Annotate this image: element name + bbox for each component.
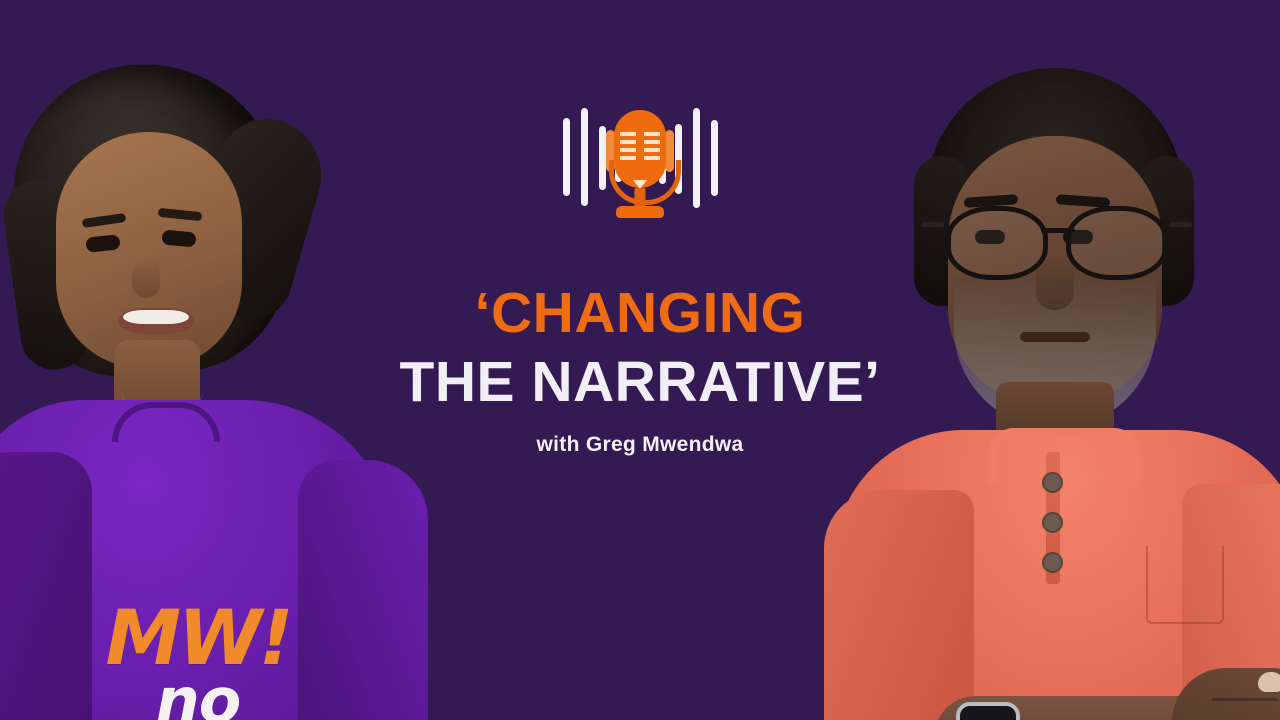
man-nose xyxy=(1036,256,1074,310)
woman-mouth xyxy=(118,308,194,334)
title-line-2: THE NARRATIVE’ xyxy=(360,354,920,411)
woman-portrait: MW! no work xyxy=(0,60,394,720)
man-shirt-button-2 xyxy=(1042,512,1063,533)
man-shirt-button-1 xyxy=(1042,472,1063,493)
waveform-bars xyxy=(555,104,725,219)
waveform-bar-left-2 xyxy=(581,108,588,206)
waveform-bar-right-2 xyxy=(675,124,682,194)
waveform-bar-right-4 xyxy=(711,120,718,196)
title-card: MW! no work xyxy=(0,0,1280,720)
podcast-microphone-waveform-icon xyxy=(555,104,725,219)
waveform-bar-right-3 xyxy=(693,108,700,208)
mic-grille xyxy=(620,132,660,166)
woman-tshirt-logo: MW! no work xyxy=(78,600,318,720)
microphone-icon xyxy=(603,106,677,218)
man-shirt-collar xyxy=(988,428,1140,485)
man-shirt-pocket xyxy=(1146,546,1224,624)
man-shirt-button-3 xyxy=(1042,552,1063,573)
man-finger-crease-1 xyxy=(1212,698,1278,701)
mic-side-bar-right xyxy=(665,130,674,172)
mic-head xyxy=(614,110,666,188)
title-block: ‘CHANGING THE NARRATIVE’ with Greg Mwend… xyxy=(360,285,920,457)
woman-eye-right xyxy=(161,230,196,248)
mic-base xyxy=(616,206,664,218)
waveform-bar-left-3 xyxy=(599,126,606,190)
waveform-bar-right-1 xyxy=(659,134,666,184)
glasses-temple-right xyxy=(1170,222,1192,227)
glasses-lens-left xyxy=(946,206,1048,280)
smartwatch-icon xyxy=(956,702,1020,720)
mic-yoke xyxy=(609,160,681,205)
woman-teeth xyxy=(123,310,189,324)
waveform-bar-left-1 xyxy=(563,118,570,196)
mic-stem xyxy=(635,188,646,210)
glasses-bridge xyxy=(1041,228,1075,233)
glasses-temple-left xyxy=(922,222,944,227)
mic-side-bar-left xyxy=(606,130,615,172)
glasses-lens-right xyxy=(1066,206,1168,280)
waveform-bar-left-4 xyxy=(615,136,622,182)
man-arm-left xyxy=(824,490,974,720)
mic-tip xyxy=(633,180,647,189)
man-portrait xyxy=(870,60,1280,720)
man-thumbnail xyxy=(1258,672,1280,692)
show-host-subtitle: with Greg Mwendwa xyxy=(360,433,920,457)
title-line-1: ‘CHANGING xyxy=(360,285,920,342)
man-mouth xyxy=(1020,332,1090,342)
woman-nose xyxy=(132,258,160,298)
